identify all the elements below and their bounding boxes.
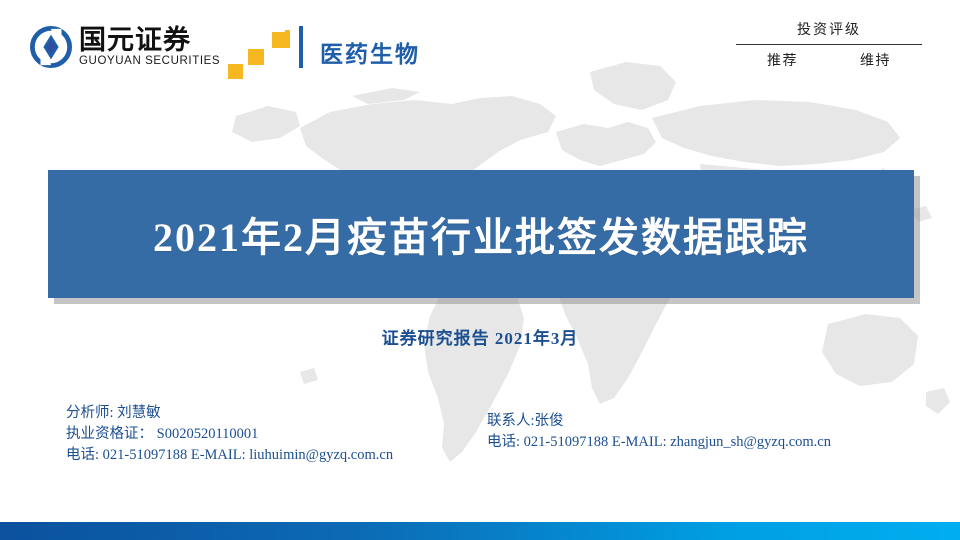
rating-divider <box>736 44 922 45</box>
analyst-name: 分析师: 刘慧敏 <box>66 403 393 424</box>
analyst-contact: 电话: 021-51097188 E-MAIL: liuhuimin@gyzq.… <box>66 445 393 466</box>
associate-contact: 电话: 021-51097188 E-MAIL: zhangjun_sh@gyz… <box>487 432 831 453</box>
guoyuan-emblem-icon <box>30 26 72 68</box>
company-logo: 国元证券 GUOYUAN SECURITIES <box>30 26 220 68</box>
rating-value-maintain: 维持 <box>860 50 891 70</box>
associate-name: 联系人:张俊 <box>487 411 831 432</box>
associate-contact-block: 联系人:张俊 电话: 021-51097188 E-MAIL: zhangjun… <box>487 411 831 453</box>
square-low <box>228 64 243 79</box>
rating-title: 投资评级 <box>736 22 922 40</box>
analyst-license: 执业资格证： S0020520110001 <box>66 424 393 445</box>
square-accent <box>285 30 290 36</box>
rating-values: 推荐 维持 <box>736 50 922 70</box>
company-name-en: GUOYUAN SECURITIES <box>79 55 220 68</box>
company-name-cn: 国元证券 <box>79 26 220 54</box>
report-subtitle: 证券研究报告 2021年3月 <box>0 324 960 349</box>
square-mid <box>248 49 264 65</box>
investment-rating-box: 投资评级 推荐 维持 <box>736 22 922 70</box>
logo-wordmark: 国元证券 GUOYUAN SECURITIES <box>79 26 220 68</box>
sector-label: 医药生物 <box>320 35 420 69</box>
report-cover-page: 国元证券 GUOYUAN SECURITIES 医药生物 投资评级 推荐 维持 … <box>0 0 960 540</box>
rating-value-recommend: 推荐 <box>767 50 798 70</box>
vertical-divider-icon <box>299 26 303 68</box>
footer-gradient-bar <box>0 522 960 540</box>
three-yellow-squares-icon <box>228 30 294 80</box>
page-title: 2021年2月疫苗行业批签发数据跟踪 <box>153 205 809 263</box>
title-banner: 2021年2月疫苗行业批签发数据跟踪 <box>48 170 914 298</box>
page-header: 国元证券 GUOYUAN SECURITIES 医药生物 投资评级 推荐 维持 <box>0 0 960 100</box>
analyst-contact-block: 分析师: 刘慧敏 执业资格证： S0020520110001 电话: 021-5… <box>66 403 393 466</box>
